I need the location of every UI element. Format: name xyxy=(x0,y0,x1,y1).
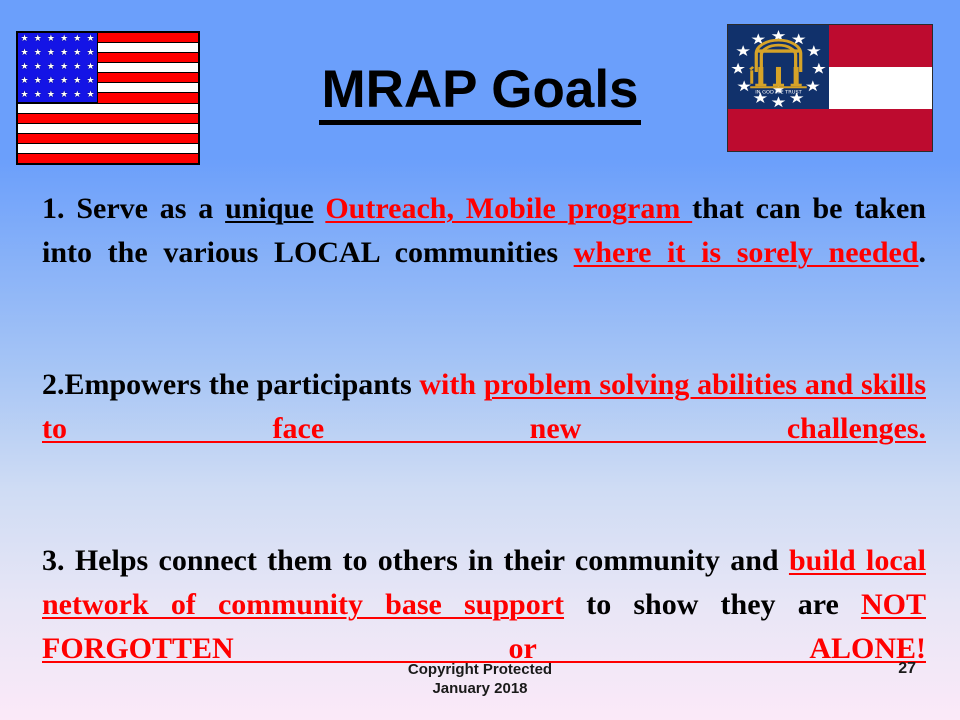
goals-list: 1. Serve as a unique Outreach, Mobile pr… xyxy=(42,187,926,715)
us-flag-stripe xyxy=(18,124,198,134)
goal-1-text-a: Serve as a xyxy=(76,192,225,225)
copyright-line-1: Copyright Protected xyxy=(0,660,960,679)
star-icon: ★ xyxy=(21,49,29,58)
slide-title: MRAP Goals xyxy=(0,62,960,125)
star-icon: ★ xyxy=(60,49,68,58)
copyright-line-2: January 2018 xyxy=(0,679,960,698)
star-icon: ★ xyxy=(34,49,42,58)
goal-1-emphasis-unique: unique xyxy=(225,192,313,225)
goal-2-number: 2. xyxy=(42,368,65,401)
star-icon: ★ xyxy=(60,35,68,44)
goal-2-emphasis-with: with xyxy=(419,368,483,401)
goal-1-period: . xyxy=(919,236,927,269)
star-icon: ★ xyxy=(86,49,94,58)
star-icon: ★ xyxy=(86,35,94,44)
goal-1-space xyxy=(314,192,326,225)
us-flag-stripe xyxy=(18,134,198,144)
star-icon: ★ xyxy=(47,49,55,58)
goal-3-number: 3. xyxy=(42,544,65,577)
page-number: 27 xyxy=(898,660,916,678)
goal-3-text-b: to show they are xyxy=(564,588,861,621)
star-icon: ★ xyxy=(21,35,29,44)
us-flag-stripe xyxy=(18,144,198,154)
slide-title-text: MRAP Goals xyxy=(319,62,640,125)
star-icon: ★ xyxy=(73,35,81,44)
goal-3-text-a: Helps connect them to others in their co… xyxy=(75,544,789,577)
goal-1-emphasis-sorely-needed: where it is sorely needed xyxy=(574,236,919,269)
goal-item-2: 2.Empowers the participants with problem… xyxy=(42,363,926,495)
goal-spacer xyxy=(42,495,926,539)
star-icon: ★ xyxy=(73,49,81,58)
goal-spacer xyxy=(42,319,926,363)
us-flag-stripe xyxy=(18,154,198,163)
goal-1-emphasis-outreach: Outreach, Mobile program xyxy=(325,192,692,225)
slide-canvas: ★ ★ ★ ★ ★ ★ ★ ★ ★ ★ ★ ★ ★ ★ ★ ★ ★ ★ ★ ★ … xyxy=(0,0,960,720)
star-icon: ★ xyxy=(47,35,55,44)
goal-item-1: 1. Serve as a unique Outreach, Mobile pr… xyxy=(42,187,926,319)
goal-2-text-a: Empowers the participants xyxy=(65,368,420,401)
goal-1-number: 1. xyxy=(42,192,65,225)
star-icon: ★ xyxy=(34,35,42,44)
footer: Copyright Protected January 2018 xyxy=(0,660,960,698)
